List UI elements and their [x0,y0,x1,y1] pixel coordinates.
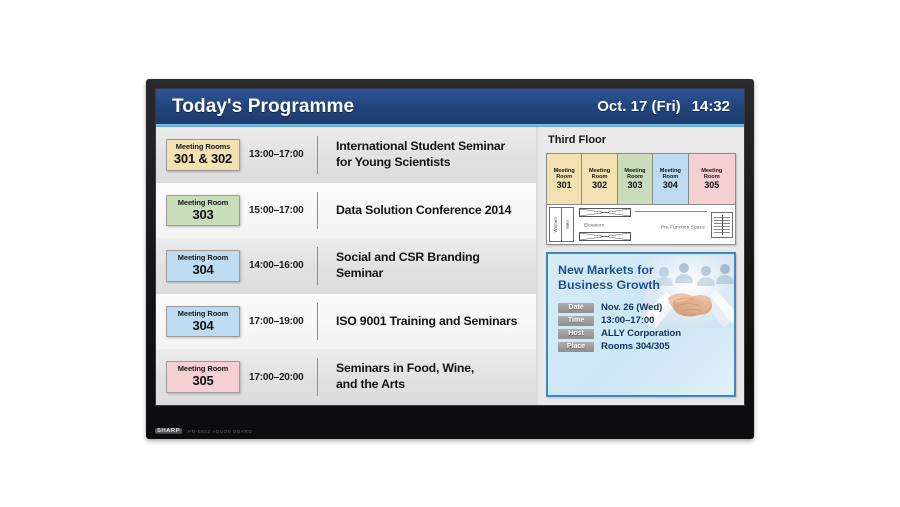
promo-label-time: Time [558,316,594,326]
promo-value-host: ALLY Corporation [601,328,681,339]
schedule-row[interactable]: Meeting Room 303 15:00–17:00 Data Soluti… [156,183,536,239]
schedule-row[interactable]: Meeting Room 304 17:00–19:00 ISO 9001 Tr… [156,294,536,350]
elevator-car-lower [579,232,631,241]
room-label-top2: Room [627,174,643,180]
event-line-1: Social and CSR Branding Seminar [336,250,528,281]
promo-value-time: 13:00–17:00 [601,315,654,326]
room-badge-number: 304 [169,263,237,277]
room-label-top2: Room [704,174,720,180]
elevator-car-upper [579,208,631,217]
room-badge-number: 304 [169,319,237,333]
room-label-top2: Room [662,174,678,180]
elevators-label: Elevators [583,222,605,227]
floorplan-room-303[interactable]: Meeting Room 303 [618,154,653,204]
room-badge-label: Meeting Room [169,310,237,318]
mens-restroom-icon: Men [561,207,574,242]
sharp-logo: SHARP [155,428,182,433]
room-number: 305 [704,181,719,191]
screen-body: Meeting Rooms 301 & 302 13:00–17:00 Inte… [156,127,744,405]
room-number: 302 [592,181,607,191]
schedule-row[interactable]: Meeting Room 304 14:00–16:00 Social and … [156,238,536,294]
promo-title: New Markets for Business Growth [558,263,726,293]
schedule-time: 15:00–17:00 [249,205,308,216]
floorplan-title: Third Floor [546,134,736,146]
floorplan-map[interactable]: Meeting Room 301 Meeting Room 302 Meetin… [546,153,736,245]
header-time: 14:32 [692,98,730,115]
promo-detail-row: Date Nov. 26 (Wed) [558,302,726,313]
room-number: 304 [663,181,678,191]
promo-title-line1: New Markets for [558,263,726,278]
schedule-event-title: Data Solution Conference 2014 [327,203,511,219]
floorplan-room-row: Meeting Room 301 Meeting Room 302 Meetin… [547,154,735,204]
floorplan-room-302[interactable]: Meeting Room 302 [582,154,617,204]
monitor-bezel: Today's Programme Oct. 17 (Fri) 14:32 Me… [155,88,745,406]
page-title: Today's Programme [172,96,354,118]
room-label-top2: Room [556,174,572,180]
room-number: 301 [557,181,572,191]
event-line-1: Seminars in Food, Wine, [336,361,474,377]
event-line-2: for Young Scientists [336,155,505,171]
signage-screen: Today's Programme Oct. 17 (Fri) 14:32 Me… [156,89,744,405]
schedule-event-title: ISO 9001 Training and Seminars [327,314,517,330]
room-badge-label: Meeting Room [169,365,237,373]
device-branding: SHARP PN-E603 AQUOS BOARD [155,426,745,436]
room-badge: Meeting Room 304 [166,306,240,338]
promo-detail-row: Time 13:00–17:00 [558,315,726,326]
row-divider [317,358,318,396]
event-line-1: International Student Seminar [336,139,505,155]
schedule-time: 14:00–16:00 [249,260,308,271]
schedule-event-title: International Student Seminar for Young … [327,139,505,170]
promo-label-date: Date [558,303,594,313]
promo-title-line2: Business Growth [558,278,726,293]
row-divider [317,247,318,285]
promo-panel[interactable]: New Markets for Business Growth Date Nov… [546,252,736,397]
schedule-time: 17:00–19:00 [249,316,308,327]
row-divider [317,192,318,230]
datetime-display: Oct. 17 (Fri) 14:32 [597,98,730,115]
room-badge-number: 303 [169,208,237,222]
schedule-row[interactable]: Meeting Rooms 301 & 302 13:00–17:00 Inte… [156,127,536,183]
promo-detail-row: Place Rooms 304/305 [558,341,726,352]
promo-value-place: Rooms 304/305 [601,341,670,352]
row-divider [317,303,318,341]
schedule-row[interactable]: Meeting Room 305 17:00–20:00 Seminars in… [156,349,536,405]
mens-restroom-label: Men [565,220,570,229]
floorplan-room-304[interactable]: Meeting Room 304 [653,154,688,204]
schedule-list: Meeting Rooms 301 & 302 13:00–17:00 Inte… [156,127,538,405]
pre-function-space-label: Pre Function Space [661,224,705,229]
header-date: Oct. 17 (Fri) [597,98,680,115]
schedule-event-title: Social and CSR Branding Seminar [327,250,528,281]
floorplan-room-305[interactable]: Meeting Room 305 [689,154,735,204]
event-line-1: ISO 9001 Training and Seminars [336,314,517,330]
schedule-time: 17:00–20:00 [249,372,308,383]
promo-value-date: Nov. 26 (Wed) [601,302,662,313]
elevators-icon: Elevators [579,207,631,242]
promo-details: Date Nov. 26 (Wed) Time 13:00–17:00 Host… [558,302,726,352]
promo-label-place: Place [558,342,594,352]
row-divider [317,136,318,174]
event-line-1: Data Solution Conference 2014 [336,203,511,219]
event-line-2: and the Arts [336,377,474,393]
promo-label-host: Host [558,329,594,339]
floorplan-room-301[interactable]: Meeting Room 301 [547,154,582,204]
schedule-event-title: Seminars in Food, Wine, and the Arts [327,361,474,392]
device-model-label: PN-E603 AQUOS BOARD [188,429,252,434]
right-panel: Third Floor Meeting Room 301 Meeting Roo… [538,127,744,405]
room-badge-label: Meeting Rooms [169,143,237,151]
screen-header: Today's Programme Oct. 17 (Fri) 14:32 [156,89,744,127]
room-label-top2: Room [592,174,608,180]
room-badge: Meeting Rooms 301 & 302 [166,139,240,171]
stairs-icon [711,212,733,238]
floorplan-corridor: Women Men Elevators Pre Func [547,204,735,244]
pre-function-space: Pre Function Space [635,211,707,240]
room-number: 303 [627,181,642,191]
room-badge-number: 301 & 302 [169,152,237,166]
room-badge: Meeting Room 304 [166,250,240,282]
schedule-time: 13:00–17:00 [249,149,308,160]
digital-signage-monitor: Today's Programme Oct. 17 (Fri) 14:32 Me… [146,79,754,439]
room-badge-label: Meeting Room [169,199,237,207]
room-badge: Meeting Room 303 [166,195,240,227]
room-badge: Meeting Room 305 [166,361,240,393]
promo-detail-row: Host ALLY Corporation [558,328,726,339]
room-badge-label: Meeting Room [169,254,237,262]
womens-restroom-label: Women [553,217,558,232]
room-badge-number: 305 [169,374,237,388]
